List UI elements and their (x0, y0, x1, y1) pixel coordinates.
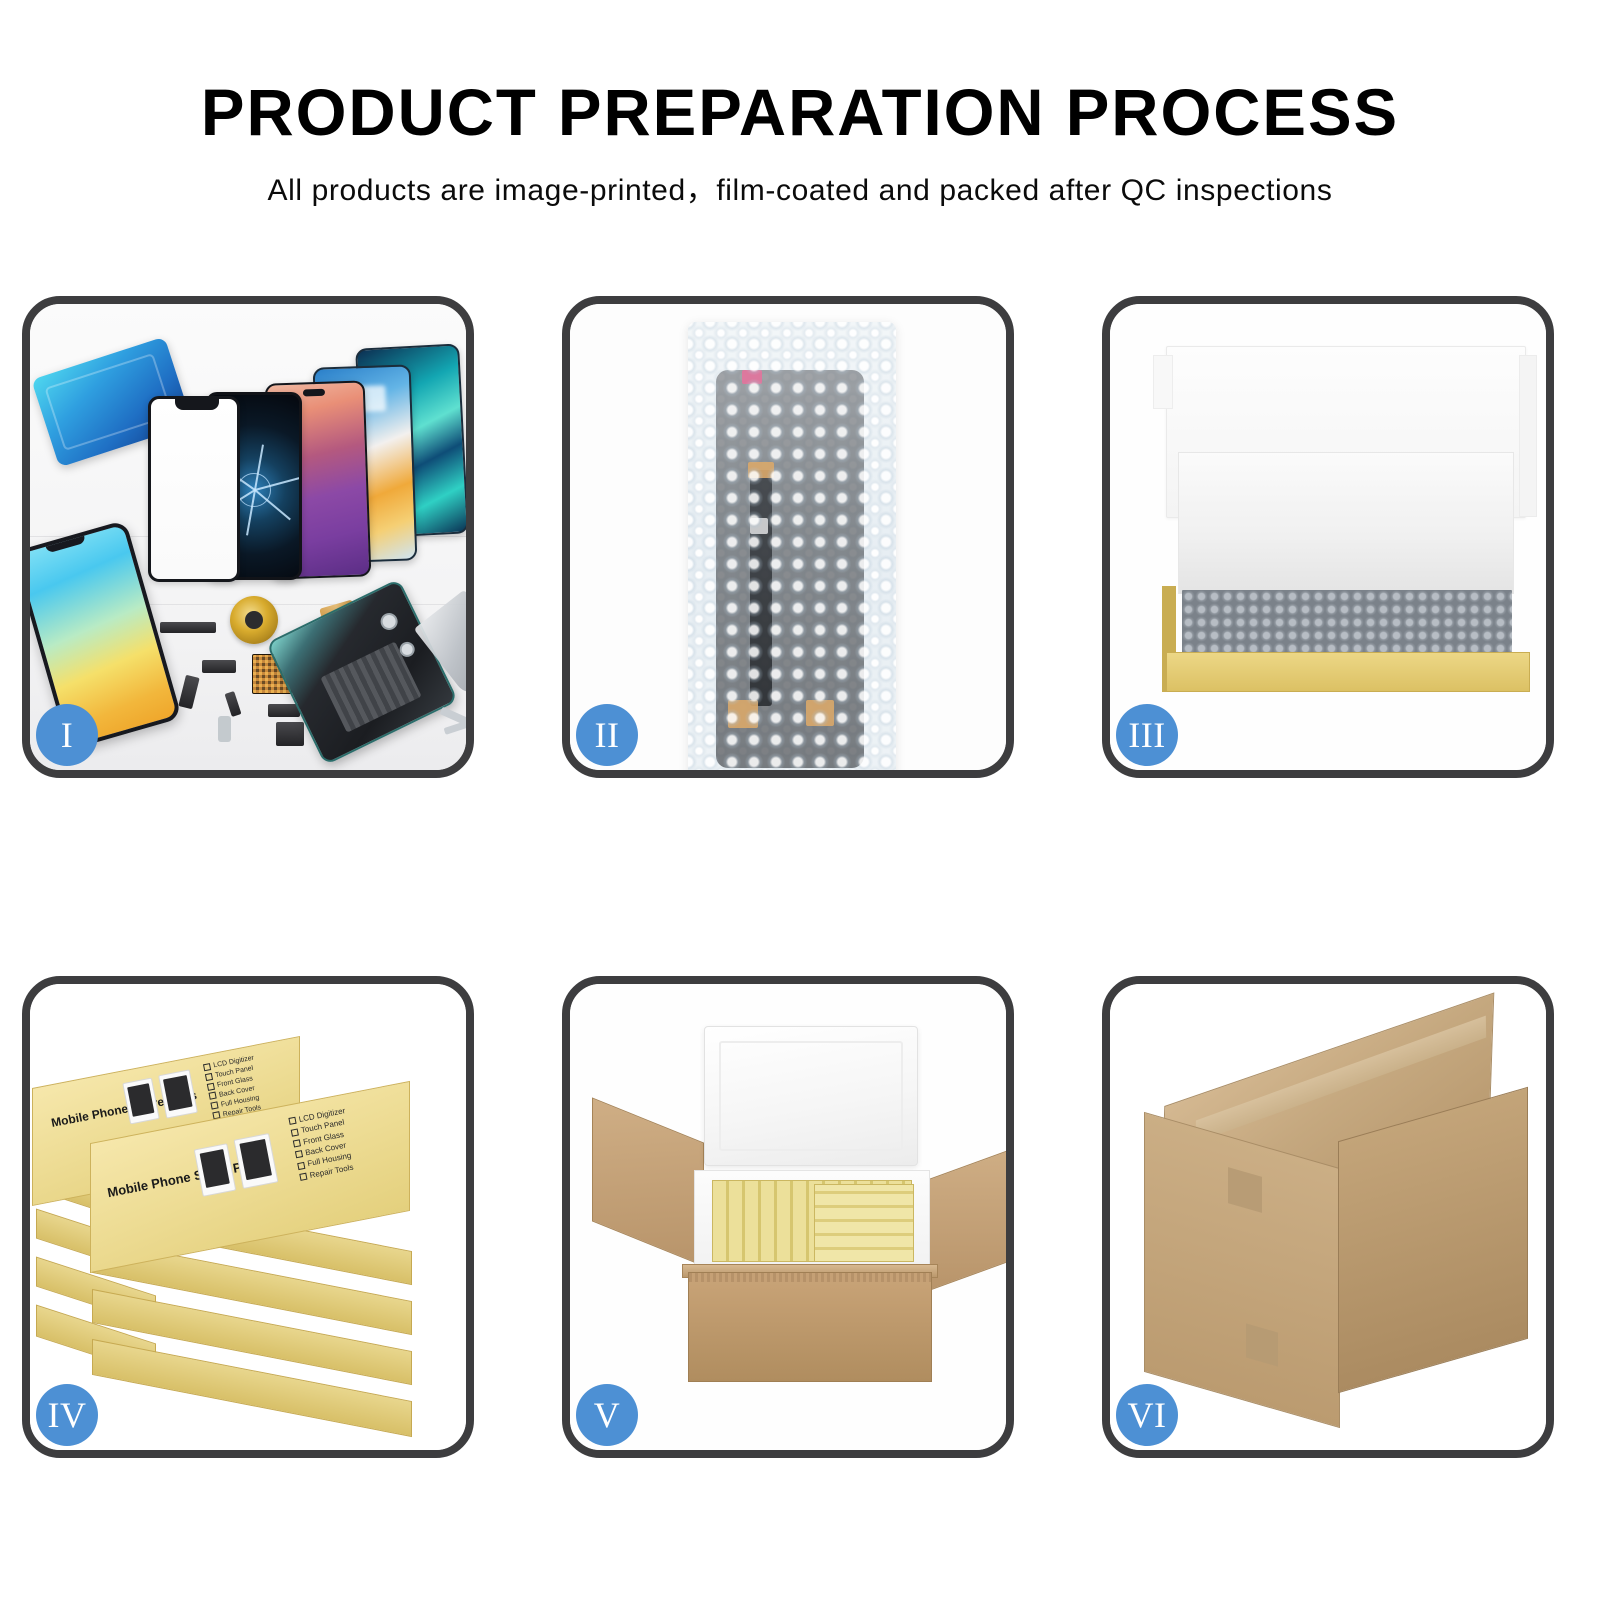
step-1-image (30, 304, 466, 770)
step-badge-6: VI (1116, 1384, 1178, 1446)
white-foam-sheet (1178, 452, 1514, 594)
step-panel-5: V (562, 976, 1014, 1458)
front-glass-panel (148, 396, 240, 582)
header: PRODUCT PREPARATION PROCESS All products… (0, 0, 1600, 209)
page-subtitle: All products are image-printed，film-coat… (0, 165, 1600, 209)
lcd-flex-ribbon (750, 470, 772, 706)
pink-protection-tab (742, 370, 762, 384)
lcd-screen-assembly (716, 370, 864, 768)
step-badge-2: II (576, 704, 638, 766)
wireless-charging-coil (230, 596, 278, 644)
styrofoam-lid (704, 1026, 918, 1166)
process-steps-grid: I II (22, 296, 1578, 1456)
step-badge-5: V (576, 1384, 638, 1446)
grey-bubble-padding (1182, 590, 1512, 654)
step-panel-6: VI (1102, 976, 1554, 1458)
step-badge-1: I (36, 704, 98, 766)
step-panel-4: Mobile Phone Spare Parts LCD Digitizer T… (22, 976, 474, 1458)
lcd-connector (750, 518, 768, 534)
step-panel-3: III (1102, 296, 1554, 778)
carton-body (688, 1272, 932, 1382)
lcd-connector (728, 700, 758, 728)
step-6-image (1110, 984, 1546, 1450)
step-5-image (570, 984, 1006, 1450)
connector-part (202, 660, 236, 673)
infographic-page: PRODUCT PREPARATION PROCESS All products… (0, 0, 1600, 1600)
step-2-image (570, 304, 1006, 770)
step-badge-3: III (1116, 704, 1178, 766)
step-panel-1: I (22, 296, 474, 778)
step-3-image (1110, 304, 1546, 770)
sim-tray-part (218, 716, 231, 742)
lcd-connector (748, 462, 774, 478)
camera-lens (377, 610, 400, 633)
page-title: PRODUCT PREPARATION PROCESS (8, 78, 1592, 147)
camera-module-part (276, 722, 304, 746)
step-4-image: Mobile Phone Spare Parts LCD Digitizer T… (30, 984, 466, 1450)
gold-boxes-inside (814, 1184, 914, 1262)
step-panel-2: II (562, 296, 1014, 778)
bubble-wrap-pouch (688, 322, 896, 770)
lcd-connector (806, 700, 834, 726)
speaker-mesh-part (160, 622, 216, 633)
step-badge-4: IV (36, 1384, 98, 1446)
mailer-front-panel (1166, 652, 1530, 692)
vibration-motor-part (268, 704, 300, 717)
